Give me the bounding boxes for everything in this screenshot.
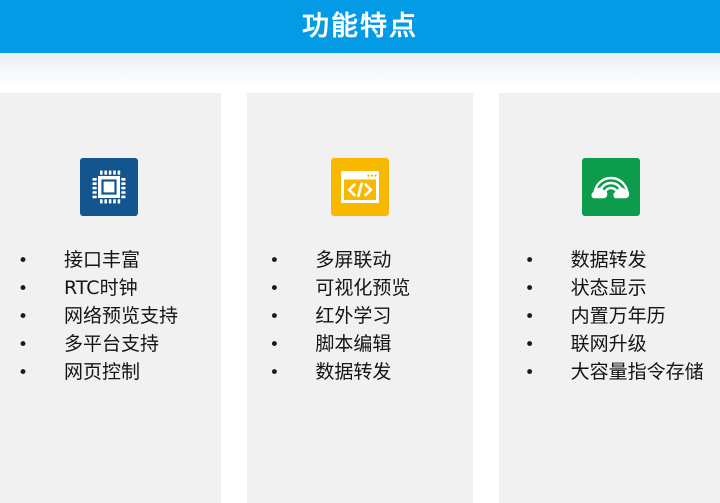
feature-card-software[interactable]: • 多屏联动 • 可视化预览 • 红外学习 • 脚本编辑 • 数据转发 <box>247 93 472 503</box>
bullet-marker: • <box>517 365 543 382</box>
feature-label: 数据转发 <box>315 363 391 382</box>
bullet-marker: • <box>517 281 543 298</box>
list-item: • 网络预览支持 <box>0 307 221 335</box>
bullet-marker: • <box>261 365 287 382</box>
list-item: • 可视化预览 <box>247 279 472 307</box>
list-item: • 内置万年历 <box>499 307 720 335</box>
chip-icon <box>80 158 138 216</box>
list-item: • 接口丰富 <box>0 251 221 279</box>
feature-label: 可视化预览 <box>315 279 410 298</box>
feature-label: 内置万年历 <box>571 307 666 326</box>
card-icon-container <box>499 158 720 216</box>
list-item: • RTC时钟 <box>0 279 221 307</box>
bullet-marker: • <box>261 309 287 326</box>
list-item: • 状态显示 <box>499 279 720 307</box>
feature-label: 大容量指令存储 <box>571 363 704 382</box>
feature-label: 多屏联动 <box>315 251 391 270</box>
list-item: • 网页控制 <box>0 363 221 391</box>
header-spacer <box>0 85 720 93</box>
list-item: • 多屏联动 <box>247 251 472 279</box>
feature-list: • 多屏联动 • 可视化预览 • 红外学习 • 脚本编辑 • 数据转发 <box>247 251 472 391</box>
feature-label: 多平台支持 <box>64 335 159 354</box>
feature-label: 网络预览支持 <box>64 307 178 326</box>
feature-label: 状态显示 <box>571 279 647 298</box>
feature-cards-row: • 接口丰富 • RTC时钟 • 网络预览支持 • 多平台支持 • 网页控制 <box>0 93 720 503</box>
bullet-marker: • <box>517 253 543 270</box>
list-item: • 联网升级 <box>499 335 720 363</box>
bullet-marker: • <box>261 337 287 354</box>
feature-label: 网页控制 <box>64 363 140 382</box>
page-title: 功能特点 <box>302 13 418 40</box>
bullet-marker: • <box>261 281 287 298</box>
rainbow-cloud-icon <box>582 158 640 216</box>
feature-label: 接口丰富 <box>64 251 140 270</box>
bullet-marker: • <box>10 309 36 326</box>
bullet-marker: • <box>10 365 36 382</box>
bullet-marker: • <box>261 253 287 270</box>
feature-list: • 数据转发 • 状态显示 • 内置万年历 • 联网升级 • 大容量指令存储 <box>499 251 720 391</box>
feature-card-interfaces[interactable]: • 接口丰富 • RTC时钟 • 网络预览支持 • 多平台支持 • 网页控制 <box>0 93 221 503</box>
code-window-icon <box>331 158 389 216</box>
list-item: • 数据转发 <box>499 251 720 279</box>
card-icon-container <box>247 158 472 216</box>
bullet-marker: • <box>517 337 543 354</box>
feature-label: 脚本编辑 <box>315 335 391 354</box>
list-item: • 数据转发 <box>247 363 472 391</box>
list-item: • 大容量指令存储 <box>499 363 720 391</box>
bullet-marker: • <box>10 253 36 270</box>
list-item: • 脚本编辑 <box>247 335 472 363</box>
feature-card-network[interactable]: • 数据转发 • 状态显示 • 内置万年历 • 联网升级 • 大容量指令存储 <box>499 93 720 503</box>
bullet-marker: • <box>10 337 36 354</box>
card-icon-container <box>0 158 221 216</box>
feature-label: 红外学习 <box>315 307 391 326</box>
list-item: • 红外学习 <box>247 307 472 335</box>
feature-label: 数据转发 <box>571 251 647 270</box>
list-item: • 多平台支持 <box>0 335 221 363</box>
feature-list: • 接口丰富 • RTC时钟 • 网络预览支持 • 多平台支持 • 网页控制 <box>0 251 221 391</box>
feature-label: RTC时钟 <box>64 279 138 298</box>
bullet-marker: • <box>10 281 36 298</box>
feature-label: 联网升级 <box>571 335 647 354</box>
bullet-marker: • <box>517 309 543 326</box>
page-header-banner: 功能特点 <box>0 0 720 53</box>
